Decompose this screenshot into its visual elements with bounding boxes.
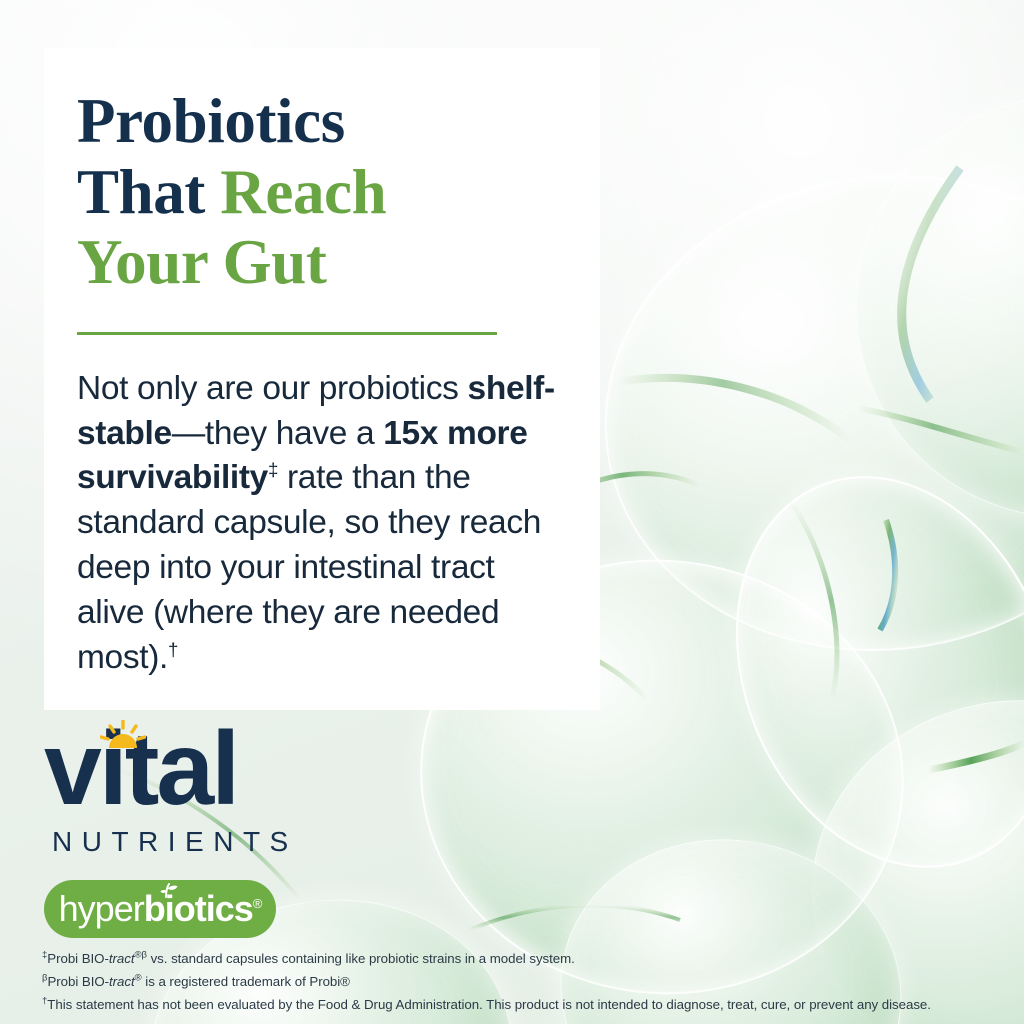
vital-subtitle: NUTRIENTS (52, 826, 298, 858)
footnote-line-italic: tract (109, 974, 135, 989)
hyperbiotics-registered-mark: ® (253, 896, 262, 911)
footnote-line-pre: Probi BIO- (47, 974, 109, 989)
footnote-line-italic: tract (109, 951, 135, 966)
footnote-line-pre: Probi BIO- (47, 951, 109, 966)
sun-icon (100, 720, 146, 750)
hyperbiotics-light-part: hyper (59, 888, 144, 929)
footnote-line-post: This statement has not been evaluated by… (47, 997, 931, 1012)
footnote-line-sups: ®β (134, 950, 146, 961)
body-segment-3: —they have a (172, 415, 383, 452)
body-segment-1: Not only are our probiotics (77, 370, 468, 407)
footnote-block: ‡Probi BIO-tract®β vs. standard capsules… (42, 948, 931, 1017)
footnote-line: †This statement has not been evaluated b… (42, 994, 931, 1017)
headline-line-1: Probiotics (77, 86, 345, 156)
green-divider-rule (77, 332, 497, 335)
footnote-line-sups: ® (135, 972, 142, 983)
footnote-line: ‡Probi BIO-tract®β vs. standard capsules… (42, 948, 931, 971)
footnote-line-post: is a registered trademark of Probi® (142, 974, 350, 989)
page-title: Probiotics That Reach Your Gut (77, 86, 556, 298)
vital-wordmark: vital (44, 722, 298, 818)
hyperbiotics-wordmark: hyperbiotics® (59, 891, 262, 927)
footnote-marker-dagger: † (168, 639, 178, 660)
body-paragraph: Not only are our probiotics shelf-stable… (77, 367, 556, 681)
footnote-line: βProbi BIO-tract® is a registered tradem… (42, 971, 931, 994)
hyperbiotics-badge: hyperbiotics® (44, 880, 276, 938)
vital-nutrients-logo: vital NUTRIENTS (44, 722, 298, 858)
headline-line-2-navy: That (77, 157, 220, 227)
headline-line-3-green: Your Gut (77, 227, 326, 297)
footnote-marker-double-dagger: ‡ (268, 459, 278, 480)
promo-image-canvas: Probiotics That Reach Your Gut Not only … (0, 0, 1024, 1024)
footnote-line-post: vs. standard capsules containing like pr… (147, 951, 575, 966)
leaf-sprout-icon (155, 882, 179, 898)
headline-line-2-green: Reach (220, 157, 386, 227)
content-card: Probiotics That Reach Your Gut Not only … (44, 48, 600, 710)
